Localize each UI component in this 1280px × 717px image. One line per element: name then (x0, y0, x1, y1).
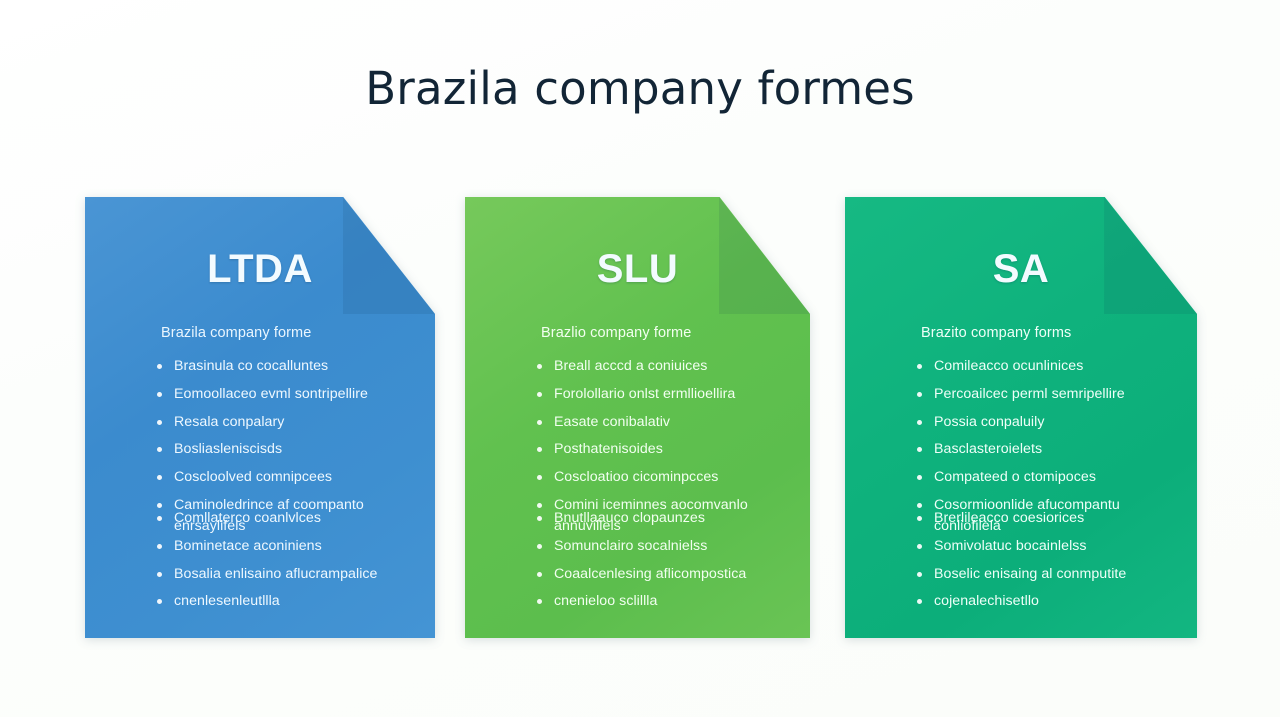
card-sa-subtitle: Brazito company forms (921, 325, 1175, 341)
list-item: Bosliasleniscisds (157, 439, 421, 460)
card-slu-heading: SLU (465, 247, 810, 292)
list-item: Forolollario onlst ermllioellira (537, 384, 796, 405)
list-item: Somivolatuc bocainlelss (917, 536, 1183, 557)
list-item: Comileacco ocunlinices (917, 356, 1183, 377)
card-slu[interactable]: SLU Brazlio company forme Breall acccd a… (465, 197, 810, 638)
list-item: cnenieloo sclillla (537, 591, 796, 612)
list-item: Possia conpaluily (917, 412, 1183, 433)
list-item: Boselic enisaing al conmputite (917, 564, 1183, 585)
list-item: Easate conibalativ (537, 412, 796, 433)
card-sa[interactable]: SA Brazito company forms Comileacco ocun… (845, 197, 1197, 638)
list-item: Somunclairo socalnielss (537, 536, 796, 557)
list-item: Coscloatioo cicominpcces (537, 467, 796, 488)
card-ltda-subtitle: Brazila company forme (161, 325, 413, 341)
list-item: Breall acccd a coniuices (537, 356, 796, 377)
card-sa-bullets-secondary: Brerlileacco coesiorices Somivolatuc boc… (917, 508, 1183, 619)
list-item: Coaalcenlesing aflicompostica (537, 564, 796, 585)
list-item: Eomoollaceo evml sontripellire (157, 384, 421, 405)
list-item: Comllaterco coanlvlces (157, 508, 421, 529)
list-item: Coscloolved comnipcees (157, 467, 421, 488)
card-slu-bullets-secondary: Bnutllaauco clopaunzes Somunclairo socal… (537, 508, 796, 619)
list-item: cojenalechisetllo (917, 591, 1183, 612)
list-item: Compateed o ctomipoces (917, 467, 1183, 488)
card-row: LTDA Brazila company forme Brasinula co … (0, 197, 1280, 642)
list-item: cnenlesenleutllla (157, 591, 421, 612)
card-ltda-bullets-secondary: Comllaterco coanlvlces Bominetace aconin… (157, 508, 421, 619)
card-slu-subtitle: Brazlio company forme (541, 325, 788, 341)
list-item: Bosalia enlisaino aflucrampalice (157, 564, 421, 585)
list-item: Resala conpalary (157, 412, 421, 433)
list-item: Bominetace aconiniens (157, 536, 421, 557)
card-slu-content: SLU Brazlio company forme Breall acccd a… (465, 197, 810, 638)
list-item: Basclasteroielets (917, 439, 1183, 460)
slide-canvas: Brazila company formes LTDA Brazila comp… (0, 0, 1280, 717)
list-item: Posthatenisoides (537, 439, 796, 460)
card-ltda[interactable]: LTDA Brazila company forme Brasinula co … (85, 197, 435, 638)
page-title: Brazila company formes (0, 62, 1280, 115)
card-sa-content: SA Brazito company forms Comileacco ocun… (845, 197, 1197, 638)
card-ltda-content: LTDA Brazila company forme Brasinula co … (85, 197, 435, 638)
card-sa-heading: SA (845, 247, 1197, 292)
list-item: Brerlileacco coesiorices (917, 508, 1183, 529)
list-item: Bnutllaauco clopaunzes (537, 508, 796, 529)
list-item: Brasinula co cocalluntes (157, 356, 421, 377)
card-ltda-heading: LTDA (85, 247, 435, 292)
list-item: Percoailcec perml semripellire (917, 384, 1183, 405)
